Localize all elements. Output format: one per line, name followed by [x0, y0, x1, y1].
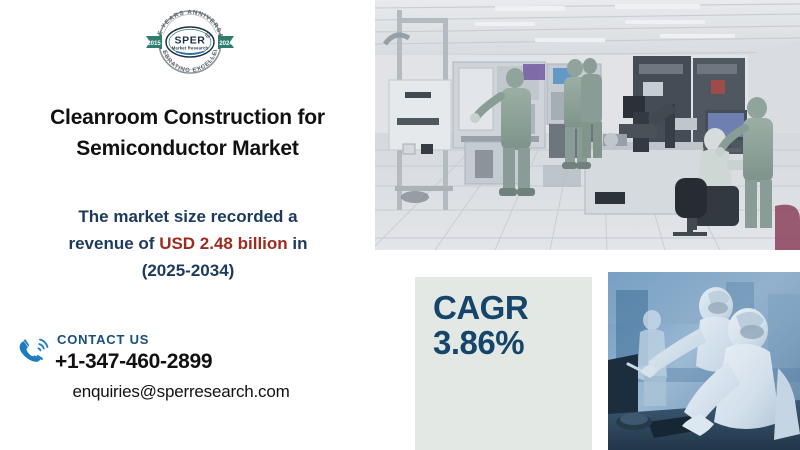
left-content-column: NINE YEARS ANNIVERSARY CELEBRATING EXCEL… — [0, 0, 375, 450]
cagr-label: CAGR — [433, 290, 528, 326]
semiconductor-fab-cleanroom-photo — [375, 0, 800, 250]
revenue-prefix: revenue of — [68, 234, 159, 253]
svg-text:2024: 2024 — [219, 41, 233, 47]
sper-logo: NINE YEARS ANNIVERSARY CELEBRATING EXCEL… — [138, 4, 242, 76]
revenue-suffix: in — [288, 234, 308, 253]
contact-heading: CONTACT US — [57, 332, 149, 347]
cagr-value: 3.86% — [433, 325, 524, 361]
telephone-icon — [14, 333, 56, 367]
revenue-period: (2025-2034) — [8, 257, 368, 284]
title-line-1: Cleanroom Construction for — [0, 102, 375, 133]
revenue-value: USD 2.48 billion — [159, 234, 287, 253]
market-report-banner: NINE YEARS ANNIVERSARY CELEBRATING EXCEL… — [0, 0, 800, 450]
revenue-line-2: revenue of USD 2.48 billion in — [8, 230, 368, 257]
svg-text:R: R — [207, 34, 209, 38]
cagr-card: CAGR 3.86% — [415, 277, 592, 450]
market-size-statement: The market size recorded a revenue of US… — [8, 203, 368, 284]
contact-phone[interactable]: +1-347-460-2899 — [55, 350, 212, 374]
contact-block: CONTACT US +1-347-460-2899 enquiries@spe… — [0, 325, 375, 425]
cleanroom-technicians-photo — [608, 272, 800, 450]
svg-text:2015: 2015 — [147, 41, 161, 47]
page-title: Cleanroom Construction for Semiconductor… — [0, 102, 375, 164]
contact-email[interactable]: enquiries@sperresearch.com — [0, 382, 362, 402]
title-line-2: Semiconductor Market — [0, 133, 375, 164]
revenue-line-1: The market size recorded a — [8, 203, 368, 230]
svg-text:Market Research: Market Research — [172, 46, 209, 51]
